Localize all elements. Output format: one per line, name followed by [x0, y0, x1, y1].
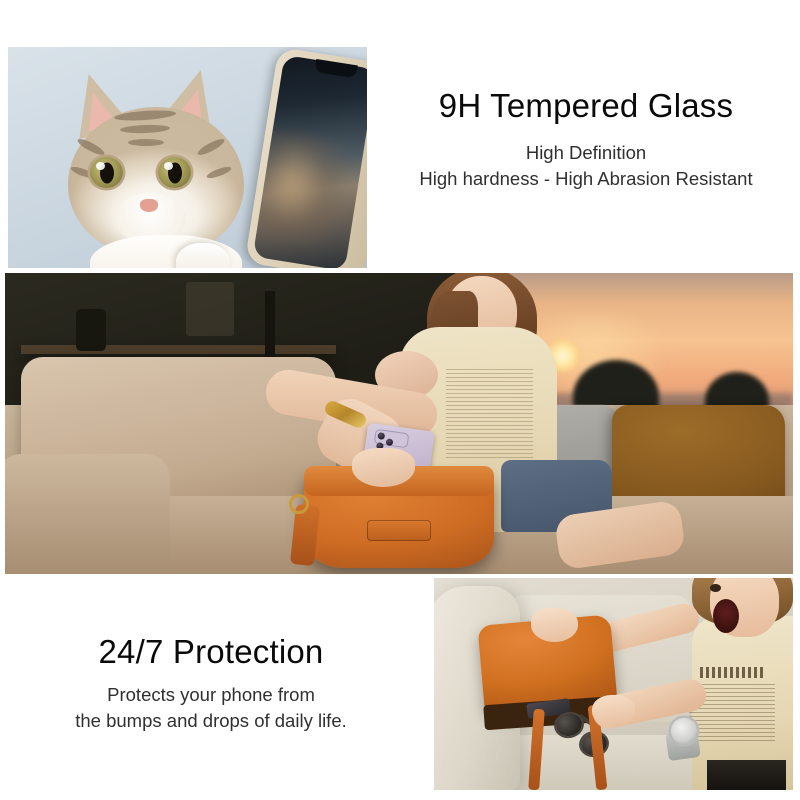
kitten-eye-glint	[96, 162, 105, 170]
headline-protection: 24/7 Protection	[6, 632, 416, 672]
kitten-eye-glint	[164, 162, 173, 170]
product-banner: 9H Tempered Glass High Definition High h…	[0, 0, 800, 800]
drop-photo-wristwatch	[671, 718, 697, 744]
kitten-stripe	[128, 139, 164, 146]
subline-bumps-drops: the bumps and drops of daily life.	[6, 708, 416, 734]
sofa-photo-arm	[5, 454, 170, 574]
kitten-nose	[140, 199, 158, 212]
sofa-photo-phone-camera-module	[373, 428, 408, 448]
subline-high-hardness: High hardness - High Abrasion Resistant	[374, 166, 798, 192]
sofa-photo-mustard-pillow	[612, 405, 785, 507]
drop-photo-tshirt-brand-print	[700, 667, 765, 678]
drop-photo-reaching-hand	[592, 695, 635, 727]
sofa-photo-shelf	[21, 345, 336, 354]
photo-cat-phone	[8, 47, 367, 268]
headline-tempered-glass: 9H Tempered Glass	[374, 86, 798, 126]
sofa-photo-woman-hand	[352, 448, 415, 487]
sofa-photo-tshirt-print	[446, 369, 533, 459]
photo-bag-drop	[434, 578, 793, 790]
sofa-photo-bag-hardware-ring	[289, 494, 309, 514]
kitten-eye-right	[158, 157, 191, 188]
drop-photo-woman-skirt	[707, 760, 786, 790]
copy-block-protection: 24/7 Protection Protects your phone from…	[6, 632, 416, 734]
copy-block-tempered-glass: 9H Tempered Glass High Definition High h…	[374, 86, 798, 192]
phone-lens	[385, 438, 393, 446]
kitten-eye-left	[90, 157, 123, 188]
sofa-photo-vase	[76, 309, 106, 351]
kitten-illustration	[54, 73, 264, 268]
sofa-photo-bag-front-tab	[367, 520, 430, 541]
sofa-photo-wall-frame	[186, 282, 234, 336]
subline-protects-phone: Protects your phone from	[6, 682, 416, 708]
phone-lens	[377, 431, 385, 439]
drop-photo-hand-on-bag	[531, 608, 578, 642]
photo-sofa-sunset	[5, 273, 793, 574]
subline-high-definition: High Definition	[374, 140, 798, 166]
